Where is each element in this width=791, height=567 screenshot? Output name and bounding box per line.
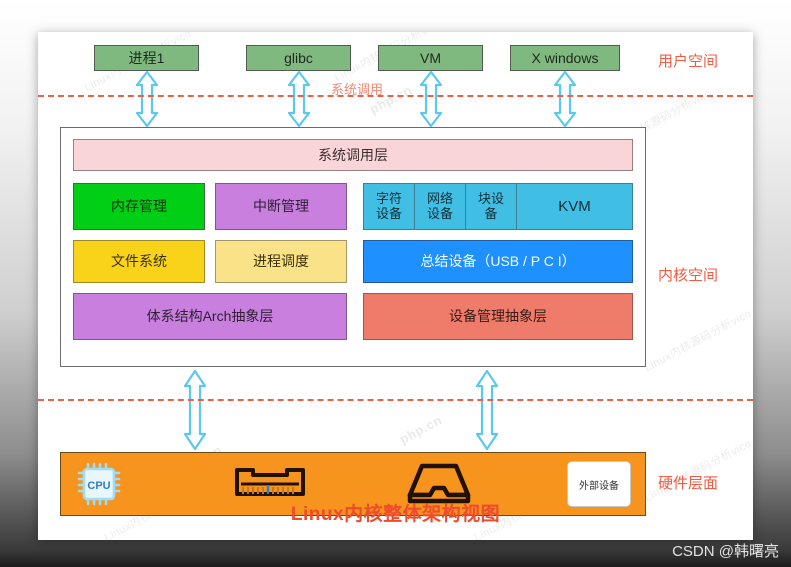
csdn-credit: CSDN @韩曙亮 bbox=[672, 540, 779, 561]
page-root: php.cn php.cn php.cn php.cn php.cn php.c… bbox=[0, 0, 791, 567]
kernel-box-kvm[interactable]: KVM bbox=[516, 183, 633, 230]
kernel-box-device-abstraction[interactable]: 设备管理抽象层 bbox=[363, 293, 633, 340]
user-box-glibc[interactable]: glibc bbox=[246, 45, 351, 71]
kernel-box-arch-abstraction[interactable]: 体系结构Arch抽象层 bbox=[73, 293, 347, 340]
separator-kernel-hardware bbox=[38, 399, 753, 401]
syscall-arrow-vm bbox=[418, 70, 444, 128]
kernel-hardware-arrow-left bbox=[182, 369, 208, 451]
user-box-process1[interactable]: 进程1 bbox=[94, 45, 199, 71]
kernel-box-filesystem[interactable]: 文件系统 bbox=[73, 240, 205, 283]
kernel-box-network-device[interactable]: 网络 设备 bbox=[414, 183, 466, 230]
diagram-canvas: php.cn php.cn php.cn php.cn php.cn php.c… bbox=[38, 32, 753, 540]
syscall-arrow-xwindows bbox=[552, 70, 578, 128]
kernel-box-block-device[interactable]: 块设 备 bbox=[465, 183, 517, 230]
layer-label-kernel-space: 内核空间 bbox=[658, 264, 718, 285]
layer-label-hardware: 硬件层面 bbox=[658, 472, 718, 493]
user-box-xwindows[interactable]: X windows bbox=[510, 45, 620, 71]
kernel-syscall-layer[interactable]: 系统调用层 bbox=[73, 139, 633, 171]
syscall-arrow-process1 bbox=[134, 70, 160, 128]
kernel-box-bus-devices[interactable]: 总结设备（USB / P C I） bbox=[363, 240, 633, 283]
kernel-box-memory-management[interactable]: 内存管理 bbox=[73, 183, 205, 230]
diagram-title: Linux内核整体架构视图 bbox=[38, 499, 753, 526]
kernel-box-process-scheduling[interactable]: 进程调度 bbox=[215, 240, 347, 283]
kernel-box-char-device[interactable]: 字符 设备 bbox=[363, 183, 415, 230]
user-box-vm[interactable]: VM bbox=[378, 45, 483, 71]
separator-user-kernel bbox=[38, 95, 753, 97]
svg-text:CPU: CPU bbox=[87, 480, 110, 492]
kernel-hardware-arrow-right bbox=[474, 369, 500, 451]
ram-icon bbox=[233, 464, 307, 504]
layer-label-user-space: 用户空间 bbox=[658, 50, 718, 71]
syscall-arrow-glibc bbox=[286, 70, 312, 128]
kernel-box-interrupt-management[interactable]: 中断管理 bbox=[215, 183, 347, 230]
kernel-space-frame: 系统调用层 内存管理 中断管理 文件系统 进程调度 体系结构Arch抽象层 字符… bbox=[60, 127, 646, 367]
